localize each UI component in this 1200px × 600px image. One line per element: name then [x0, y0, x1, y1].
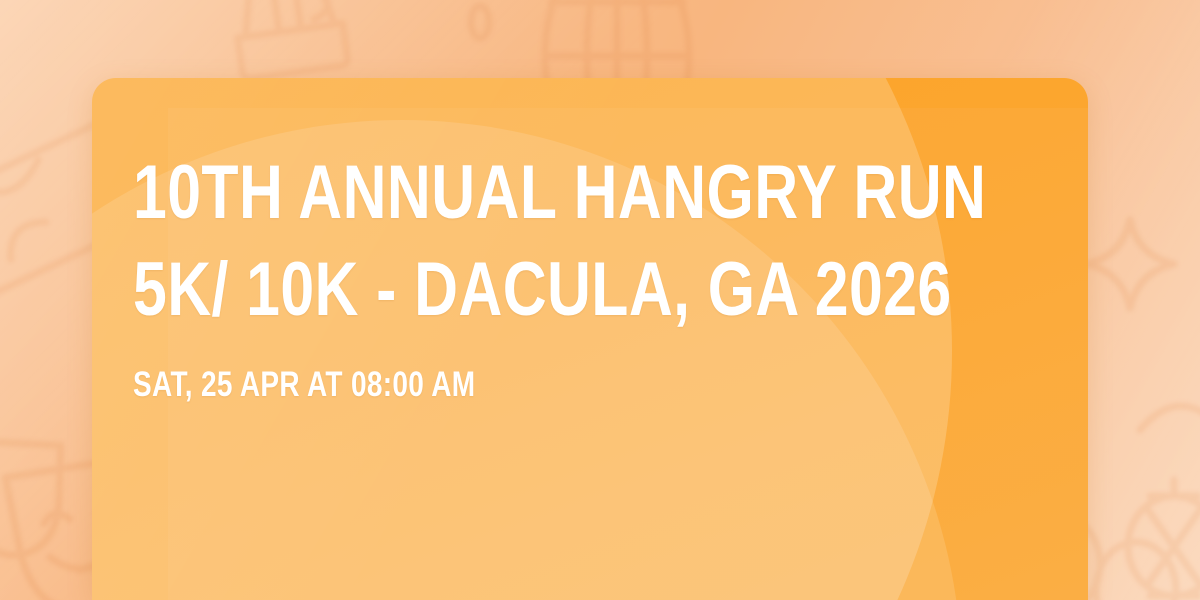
event-title: 10th Annual Hangry Run 5K/ 10K - Dacula,… — [133, 144, 1077, 338]
megaphone-icon — [229, 0, 348, 80]
event-card: 10th Annual Hangry Run 5K/ 10K - Dacula,… — [92, 78, 1088, 600]
event-banner: 10th Annual Hangry Run 5K/ 10K - Dacula,… — [0, 0, 1200, 600]
card-content: 10th Annual Hangry Run 5K/ 10K - Dacula,… — [133, 144, 1058, 405]
sparkle-icon — [1086, 220, 1174, 308]
garland-icon — [1140, 406, 1200, 454]
event-date: Sat, 25 Apr at 08:00 AM — [133, 365, 1077, 405]
